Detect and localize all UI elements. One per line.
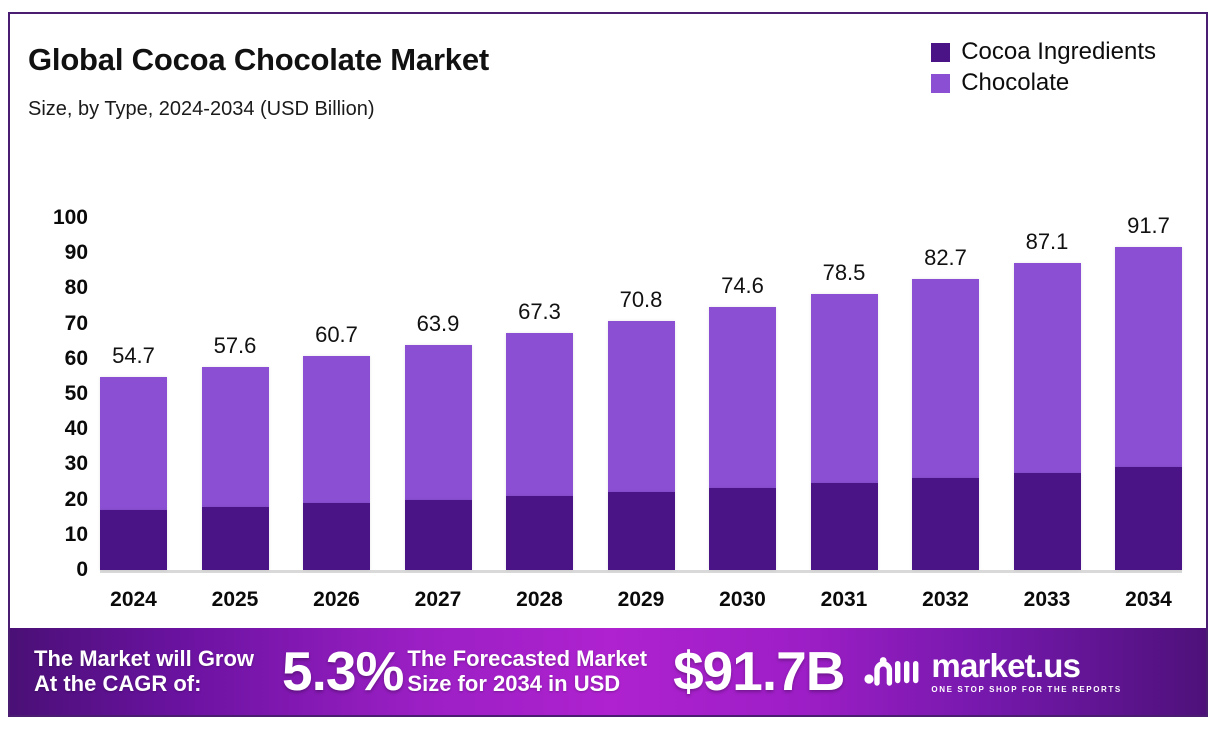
- bar-series-container: 54.7202457.6202560.7202663.9202767.32028…: [100, 162, 1182, 570]
- forecast-value: $91.7B: [673, 641, 844, 703]
- y-axis-tick-label: 100: [28, 206, 88, 230]
- bar-segment-chocolate[interactable]: [303, 356, 370, 503]
- bar-segment-chocolate[interactable]: [506, 333, 573, 496]
- bar-segment-cocoa-ingredients[interactable]: [202, 507, 269, 570]
- forecast-label: The Forecasted Market Size for 2034 in U…: [407, 647, 647, 696]
- bar-group[interactable]: 54.72024: [100, 162, 167, 570]
- bar-segment-chocolate[interactable]: [100, 377, 167, 510]
- x-axis-tick-label: 2026: [313, 588, 360, 612]
- bar-segment-cocoa-ingredients[interactable]: [1115, 467, 1182, 570]
- bar-group[interactable]: 78.52031: [811, 162, 878, 570]
- y-axis-tick-label: 80: [28, 276, 88, 300]
- logo-tagline: ONE STOP SHOP FOR THE REPORTS: [931, 685, 1121, 694]
- cagr-label: The Market will Grow At the CAGR of:: [34, 647, 254, 696]
- chart-header: Global Cocoa Chocolate Market Size, by T…: [10, 14, 1206, 162]
- bar-segment-chocolate[interactable]: [1115, 247, 1182, 467]
- bar-group[interactable]: 91.72034: [1115, 162, 1182, 570]
- cagr-value: 5.3%: [282, 641, 403, 703]
- bar-total-label: 70.8: [620, 287, 663, 313]
- bar-total-label: 67.3: [518, 299, 561, 325]
- bar-segment-cocoa-ingredients[interactable]: [506, 496, 573, 570]
- y-axis-tick-label: 50: [28, 382, 88, 406]
- y-axis-tick-label: 70: [28, 312, 88, 336]
- bar-segment-chocolate[interactable]: [608, 321, 675, 492]
- bar-segment-cocoa-ingredients[interactable]: [405, 500, 472, 570]
- x-axis-tick-label: 2031: [821, 588, 868, 612]
- x-axis-tick-label: 2025: [212, 588, 259, 612]
- legend-item-label: Chocolate: [961, 71, 1069, 95]
- bar-total-label: 82.7: [924, 245, 967, 271]
- y-axis-tick-label: 40: [28, 417, 88, 441]
- market-us-logo[interactable]: market.us ONE STOP SHOP FOR THE REPORTS: [864, 649, 1121, 694]
- x-axis-tick-label: 2028: [516, 588, 563, 612]
- bar-segment-cocoa-ingredients[interactable]: [912, 478, 979, 570]
- bar-total-label: 74.6: [721, 273, 764, 299]
- chart-legend: Cocoa Ingredients Chocolate: [931, 40, 1156, 95]
- bar-total-label: 91.7: [1127, 213, 1170, 239]
- bar-group[interactable]: 67.32028: [506, 162, 573, 570]
- bar-total-label: 57.6: [214, 333, 257, 359]
- bar-segment-cocoa-ingredients[interactable]: [709, 488, 776, 570]
- bar-segment-cocoa-ingredients[interactable]: [100, 510, 167, 570]
- logo-text: market.us ONE STOP SHOP FOR THE REPORTS: [931, 649, 1121, 694]
- bar-group[interactable]: 63.92027: [405, 162, 472, 570]
- y-axis-tick-label: 10: [28, 523, 88, 547]
- bar-segment-chocolate[interactable]: [405, 345, 472, 500]
- bar-segment-chocolate[interactable]: [1014, 263, 1081, 473]
- bar-total-label: 63.9: [417, 311, 460, 337]
- chart-plot-area: 1009080706050403020100 54.7202457.620256…: [10, 162, 1208, 622]
- bar-group[interactable]: 82.72032: [912, 162, 979, 570]
- forecast-label-line2: Size for 2034 in USD: [407, 672, 647, 697]
- x-axis-tick-label: 2033: [1024, 588, 1071, 612]
- cagr-label-line2: At the CAGR of:: [34, 672, 254, 697]
- page-title: Global Cocoa Chocolate Market: [28, 42, 489, 78]
- logo-name: market.us: [931, 649, 1121, 682]
- bar-segment-cocoa-ingredients[interactable]: [1014, 473, 1081, 570]
- legend-swatch-icon: [931, 74, 950, 93]
- x-axis-line: [100, 570, 1182, 573]
- x-axis-tick-label: 2030: [719, 588, 766, 612]
- y-axis-tick-label: 90: [28, 241, 88, 265]
- forecast-label-line1: The Forecasted Market: [407, 647, 647, 672]
- bar-group[interactable]: 57.62025: [202, 162, 269, 570]
- bar-total-label: 87.1: [1026, 229, 1069, 255]
- chart-subtitle: Size, by Type, 2024-2034 (USD Billion): [28, 98, 374, 121]
- market-us-mark-icon: [864, 652, 922, 691]
- x-axis-tick-label: 2034: [1125, 588, 1172, 612]
- bar-group[interactable]: 87.12033: [1014, 162, 1081, 570]
- legend-item-chocolate[interactable]: Chocolate: [931, 71, 1156, 95]
- bar-group[interactable]: 60.72026: [303, 162, 370, 570]
- bar-segment-chocolate[interactable]: [202, 367, 269, 507]
- legend-item-label: Cocoa Ingredients: [961, 40, 1156, 64]
- bar-total-label: 60.7: [315, 322, 358, 348]
- legend-item-cocoa-ingredients[interactable]: Cocoa Ingredients: [931, 40, 1156, 64]
- bar-segment-chocolate[interactable]: [709, 307, 776, 487]
- bar-group[interactable]: 70.82029: [608, 162, 675, 570]
- x-axis-tick-label: 2024: [110, 588, 157, 612]
- bar-group[interactable]: 74.62030: [709, 162, 776, 570]
- bar-total-label: 54.7: [112, 343, 155, 369]
- x-axis-tick-label: 2032: [922, 588, 969, 612]
- y-axis-tick-label: 20: [28, 488, 88, 512]
- bar-segment-cocoa-ingredients[interactable]: [811, 483, 878, 570]
- bar-total-label: 78.5: [823, 260, 866, 286]
- bar-segment-cocoa-ingredients[interactable]: [608, 492, 675, 570]
- bar-segment-chocolate[interactable]: [912, 279, 979, 478]
- legend-swatch-icon: [931, 43, 950, 62]
- y-axis-tick-label: 0: [28, 558, 88, 582]
- cagr-label-line1: The Market will Grow: [34, 647, 254, 672]
- bar-segment-chocolate[interactable]: [811, 294, 878, 483]
- bar-segment-cocoa-ingredients[interactable]: [303, 503, 370, 570]
- chart-card: Global Cocoa Chocolate Market Size, by T…: [8, 12, 1208, 717]
- x-axis-tick-label: 2029: [618, 588, 665, 612]
- x-axis-tick-label: 2027: [415, 588, 462, 612]
- y-axis-tick-label: 60: [28, 347, 88, 371]
- y-axis-tick-label: 30: [28, 452, 88, 476]
- footer-banner: The Market will Grow At the CAGR of: 5.3…: [10, 628, 1208, 715]
